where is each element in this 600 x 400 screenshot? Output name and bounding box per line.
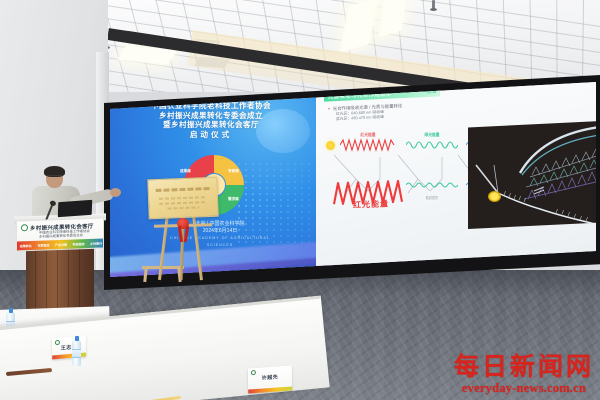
strip-label: 成果转化 <box>20 243 32 247</box>
wave-small-label: 散射损失 <box>406 195 458 200</box>
podium-sign-subtitle: 中国农业科学院老科技工作者协会 乡村振兴成果转化专委会主办 <box>39 229 90 240</box>
strip-label: 科技服务 <box>73 242 85 246</box>
watermark-url: everyday-news.com.cn <box>454 381 594 396</box>
slide-title-line: 暨乡村振兴成果转化会客厅 <box>118 120 304 130</box>
plaque-line <box>167 206 199 209</box>
plaque-line <box>159 196 207 199</box>
strip-label: 乡村振兴 <box>90 241 102 245</box>
conference-room-photo: 中国农业科学院老科技工作者协会 乡村振兴成果转化专委会成立 暨乡村振兴成果转化会… <box>0 0 600 400</box>
watermark-chinese: 每日新闻网 <box>454 353 594 380</box>
podium-color-strip: 成果转化 专家智库 产业对接 科技服务 乡村振兴 <box>17 238 104 250</box>
bullet-marker-icon: • <box>328 106 330 112</box>
slide-title-line: 启动仪式 <box>118 130 304 140</box>
water-bottle <box>72 340 81 366</box>
award-plaque <box>147 177 218 220</box>
donut-label: 专家库 <box>228 169 239 174</box>
watermark: 每日新闻网 everyday-news.com.cn <box>454 353 594 396</box>
sun-icon <box>488 191 501 202</box>
plaque-line <box>159 201 207 204</box>
bottle-label <box>72 349 81 358</box>
bullet-list: • 光合作用吸收光谱 / 光质与能量转化 红光区：640-680 nm 吸收峰 … <box>328 100 488 123</box>
name-card: 许越先 <box>248 365 292 393</box>
organization-logo <box>21 224 28 231</box>
glasses-icon <box>47 175 62 179</box>
strip-label: 专家智库 <box>37 243 49 247</box>
plaque-title-text <box>156 187 210 192</box>
easel <box>148 172 222 280</box>
emphasis-label: 红光能量 <box>334 198 408 212</box>
slide-title-line: 乡村振兴成果转化专委会成立 <box>118 111 304 121</box>
sprinkler-icon <box>432 0 435 9</box>
wave-group-green-small: 散射损失 <box>406 177 458 200</box>
sun-icon <box>326 141 335 150</box>
strip-label: 产业对接 <box>55 242 67 246</box>
molecular-diagram-panel <box>468 121 596 229</box>
donut-label: 需求库 <box>228 197 239 202</box>
waveform-green-icon <box>406 138 458 152</box>
podium-sign: 乡村振兴成果转化会客厅 中国农业科学院老科技工作者协会 乡村振兴成果转化专委会主… <box>16 217 104 251</box>
waveform-green-small-icon <box>406 180 458 190</box>
laptop <box>58 200 92 217</box>
waveform-red-icon <box>340 138 396 152</box>
red-ribbon <box>174 218 192 234</box>
speaker-hand <box>110 188 121 197</box>
slide-right-science: 光能吸收与光合作用效率 报告 • 光合作用吸收光谱 / 光质与能量转化 红光区：… <box>316 79 596 279</box>
